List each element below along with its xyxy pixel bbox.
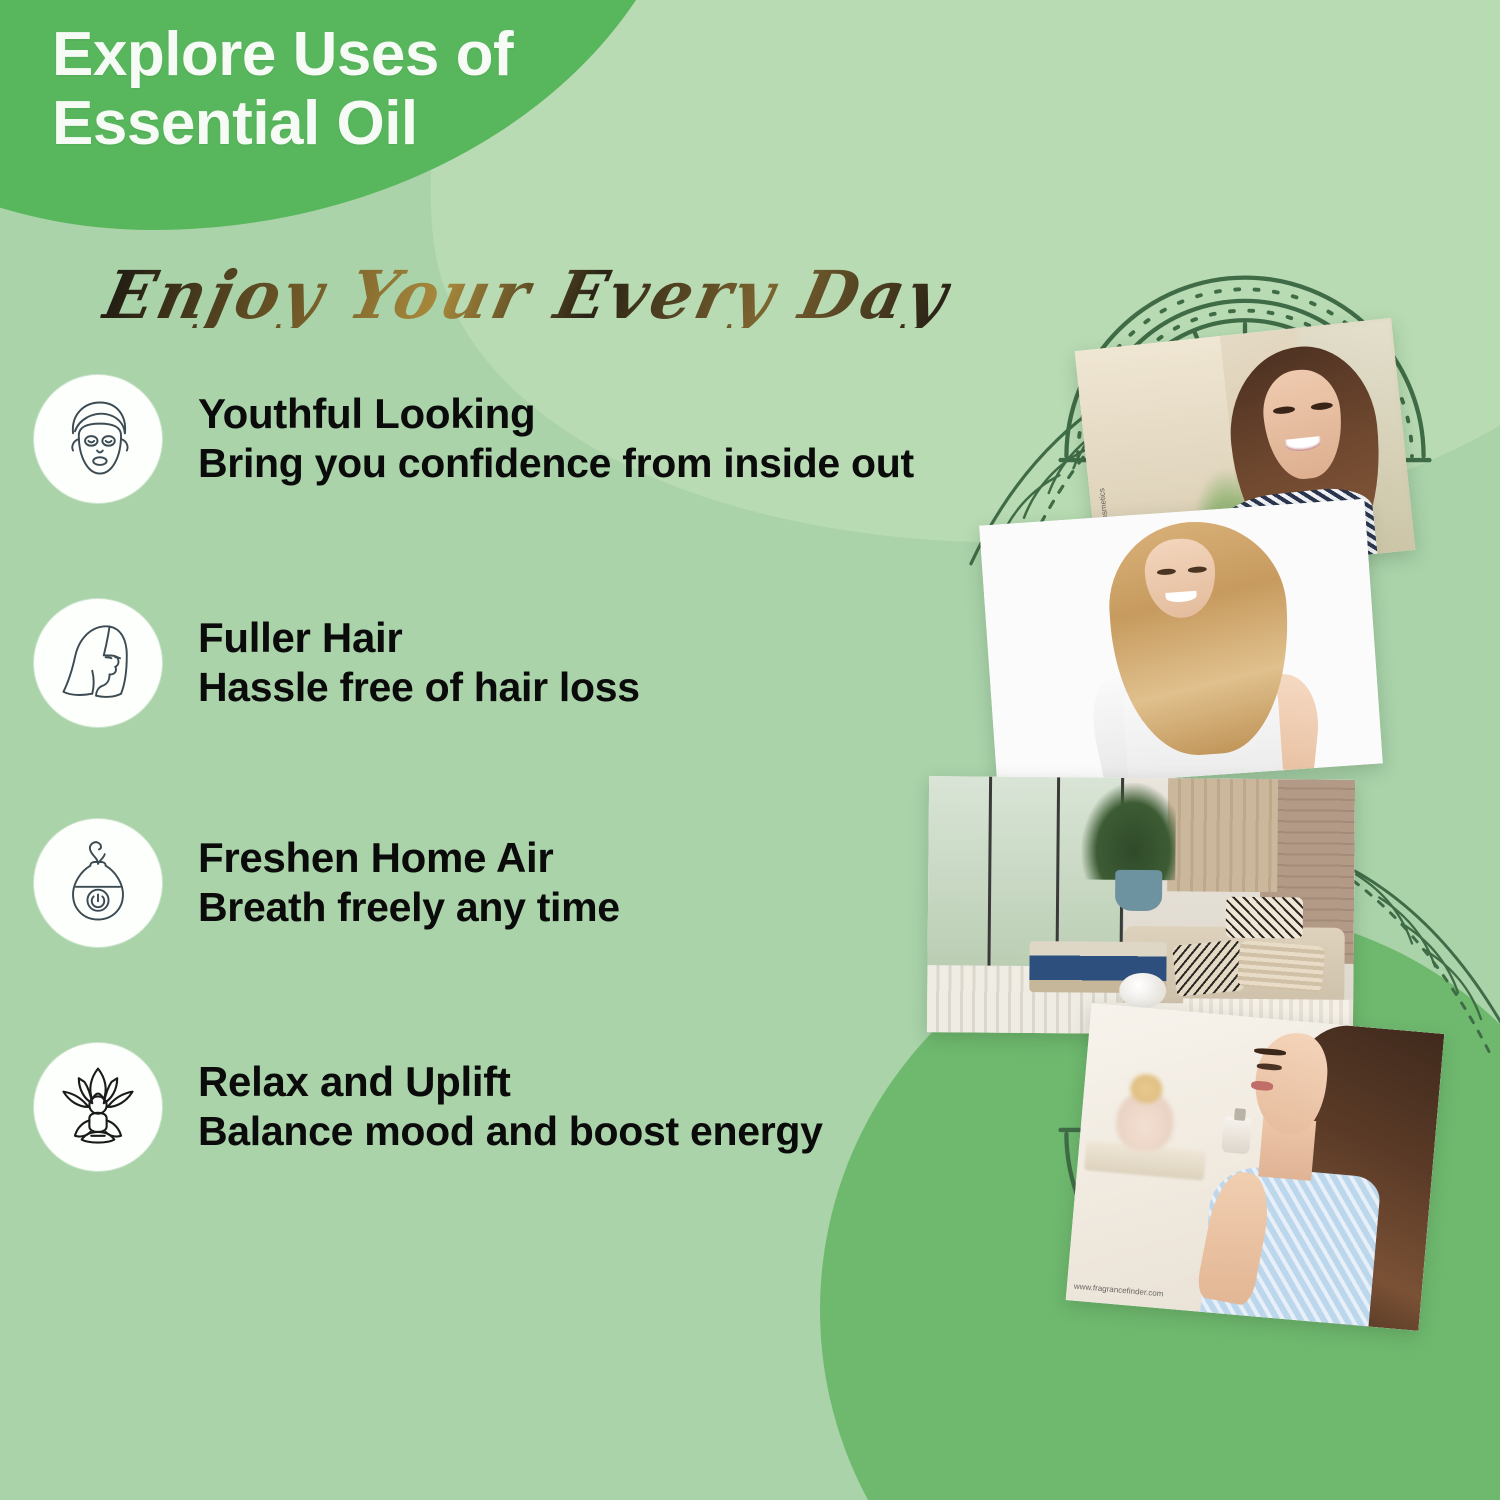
feature-text-relax-and-uplift: Relax and Uplift Balance mood and boost …	[198, 1043, 823, 1155]
page-title-line-1: Explore Uses of	[52, 20, 513, 89]
aroma-diffuser-icon	[34, 819, 162, 947]
feature-title: Youthful Looking	[198, 389, 914, 439]
feature-title: Freshen Home Air	[198, 833, 620, 883]
feature-row-freshen-home-air: Freshen Home Air Breath freely any time	[34, 819, 1054, 947]
page-title: Explore Uses of Essential Oil	[52, 20, 513, 159]
feature-title: Fuller Hair	[198, 613, 640, 663]
feature-list: Youthful Looking Bring you confidence fr…	[34, 375, 1054, 1171]
feature-row-youthful-looking: Youthful Looking Bring you confidence fr…	[34, 375, 1054, 503]
feature-row-fuller-hair: Fuller Hair Hassle free of hair loss	[34, 599, 1054, 727]
feature-row-relax-and-uplift: Relax and Uplift Balance mood and boost …	[34, 1043, 1054, 1171]
lotus-meditation-icon	[34, 1043, 162, 1171]
feature-subtitle: Breath freely any time	[198, 883, 620, 931]
feature-text-youthful-looking: Youthful Looking Bring you confidence fr…	[198, 375, 914, 487]
feature-text-freshen-home-air: Freshen Home Air Breath freely any time	[198, 819, 620, 931]
feature-text-fuller-hair: Fuller Hair Hassle free of hair loss	[198, 599, 640, 711]
photo-woman-perfume: www.fragrancefinder.com	[1066, 1003, 1445, 1331]
page-title-line-2: Essential Oil	[52, 89, 513, 158]
script-tagline: Enjoy Your Every Day	[98, 262, 956, 328]
feature-subtitle: Hassle free of hair loss	[198, 663, 640, 711]
photo-blonde-wavy-hair	[979, 499, 1383, 790]
infographic-canvas: Explore Uses of Essential Oil Enjoy Your…	[0, 0, 1500, 1500]
feature-subtitle: Bring you confidence from inside out	[198, 439, 914, 487]
long-hair-profile-icon	[34, 599, 162, 727]
face-mask-icon	[34, 375, 162, 503]
photo-living-room-diffuser	[927, 776, 1355, 1036]
feature-title: Relax and Uplift	[198, 1057, 823, 1107]
feature-subtitle: Balance mood and boost energy	[198, 1107, 823, 1155]
